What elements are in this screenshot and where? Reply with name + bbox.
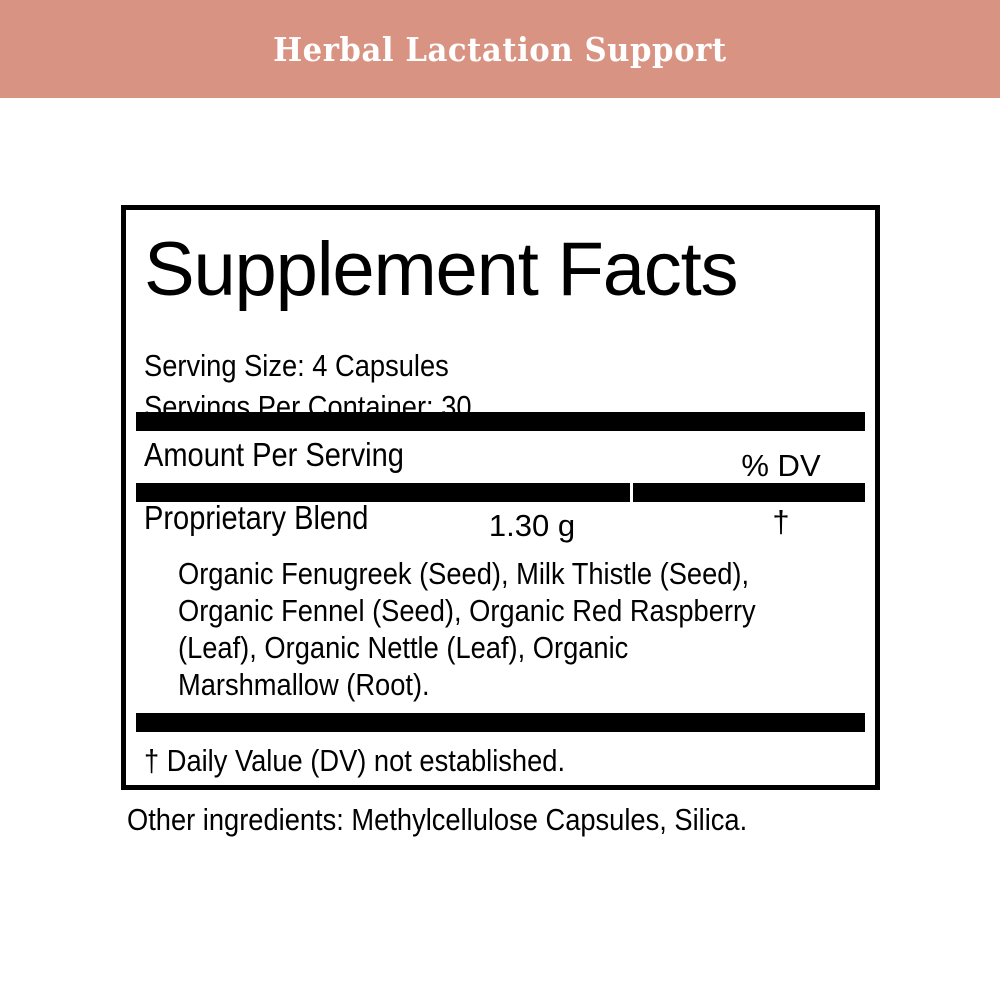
product-title: Herbal Lactation Support (273, 33, 727, 66)
proprietary-blend-amount: 1.30 g (447, 510, 617, 541)
other-ingredients-text: Other ingredients: Methylcellulose Capsu… (127, 799, 840, 840)
percent-dv-label: % DV (691, 450, 871, 481)
daily-value-footnote: † Daily Value (DV) not established. (144, 745, 565, 776)
column-divider-gap (630, 483, 633, 502)
amount-per-serving-label: Amount Per Serving (144, 438, 404, 471)
blend-ingredients-list: Organic Fenugreek (Seed), Milk Thistle (… (178, 555, 785, 703)
supplement-facts-heading: Supplement Facts (144, 232, 737, 308)
proprietary-blend-name: Proprietary Blend (144, 501, 368, 534)
supplement-facts-inner: Supplement Facts Serving Size: 4 Capsule… (131, 210, 870, 785)
proprietary-blend-daily-value: † (691, 506, 871, 537)
header-banner: Herbal Lactation Support (0, 0, 1000, 98)
rule-above-footnote (136, 713, 865, 732)
supplement-facts-panel: Supplement Facts Serving Size: 4 Capsule… (121, 205, 880, 790)
serving-size-text: Serving Size: 4 Capsules (144, 350, 449, 381)
rule-above-amount-row (136, 412, 865, 431)
